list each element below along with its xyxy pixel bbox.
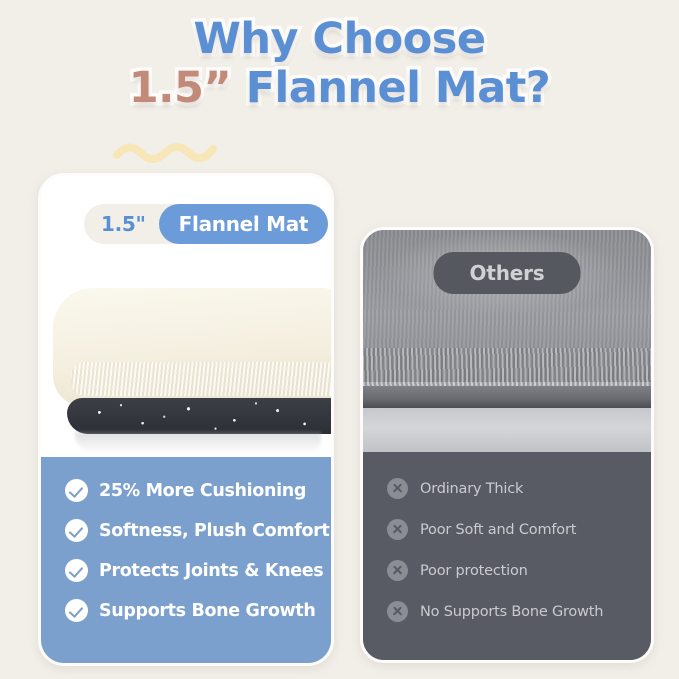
list-item: Ordinary Thick: [387, 478, 651, 499]
x-circle-icon: [387, 478, 408, 499]
mat-speckled-foam-base: [67, 398, 331, 434]
product-card-flannel-mat: 1.5" Flannel Mat 25% More Cushioning Sof…: [38, 173, 334, 666]
list-item: Poor protection: [387, 560, 651, 581]
squiggle-decoration-icon: [113, 138, 217, 164]
badge-product-name: Flannel Mat: [159, 204, 329, 244]
drawback-label: Poor protection: [420, 563, 528, 579]
title-line-1: Why Choose: [0, 18, 679, 61]
benefit-label: Softness, Plush Comfort: [99, 521, 329, 541]
benefit-label: Supports Bone Growth: [99, 601, 315, 621]
drawback-label: Poor Soft and Comfort: [420, 522, 576, 538]
product-card-others: Others Ordinary Thick Poor Soft and Comf…: [360, 227, 654, 663]
benefit-label: Protects Joints & Knees: [99, 561, 323, 581]
others-mat-photo: Others: [363, 230, 651, 452]
mat-fur-texture: [71, 362, 331, 396]
check-circle-icon: [65, 599, 88, 622]
plush-edge: [363, 386, 651, 408]
benefits-list: 25% More Cushioning Softness, Plush Comf…: [41, 457, 331, 663]
badge-others: Others: [434, 252, 581, 294]
title-line-2-rest: Flannel Mat?: [246, 63, 551, 113]
flannel-mat-photo: 1.5" Flannel Mat: [41, 176, 331, 457]
check-circle-icon: [65, 479, 88, 502]
list-item: Softness, Plush Comfort: [65, 519, 331, 542]
benefit-label: 25% More Cushioning: [99, 481, 306, 501]
x-circle-icon: [387, 560, 408, 581]
mat-reflection: [75, 432, 321, 454]
mat-cream-layer: [53, 288, 331, 406]
list-item: Poor Soft and Comfort: [387, 519, 651, 540]
badge-size-label: 1.5": [101, 212, 159, 236]
drawback-label: No Supports Bone Growth: [420, 604, 603, 620]
x-circle-icon: [387, 519, 408, 540]
drawbacks-list: Ordinary Thick Poor Soft and Comfort Poo…: [363, 452, 651, 660]
title-accent-size: 1.5”: [129, 63, 231, 113]
x-circle-icon: [387, 601, 408, 622]
check-circle-icon: [65, 519, 88, 542]
badge-flannel-mat: 1.5" Flannel Mat: [84, 204, 328, 244]
drawback-label: Ordinary Thick: [420, 481, 523, 497]
list-item: No Supports Bone Growth: [387, 601, 651, 622]
floor-surface: [363, 408, 651, 452]
title-line-2: 1.5” Flannel Mat?: [0, 67, 679, 110]
page-title: Why Choose 1.5” Flannel Mat?: [0, 18, 679, 110]
list-item: Supports Bone Growth: [65, 599, 331, 622]
list-item: Protects Joints & Knees: [65, 559, 331, 582]
check-circle-icon: [65, 559, 88, 582]
list-item: 25% More Cushioning: [65, 479, 331, 502]
